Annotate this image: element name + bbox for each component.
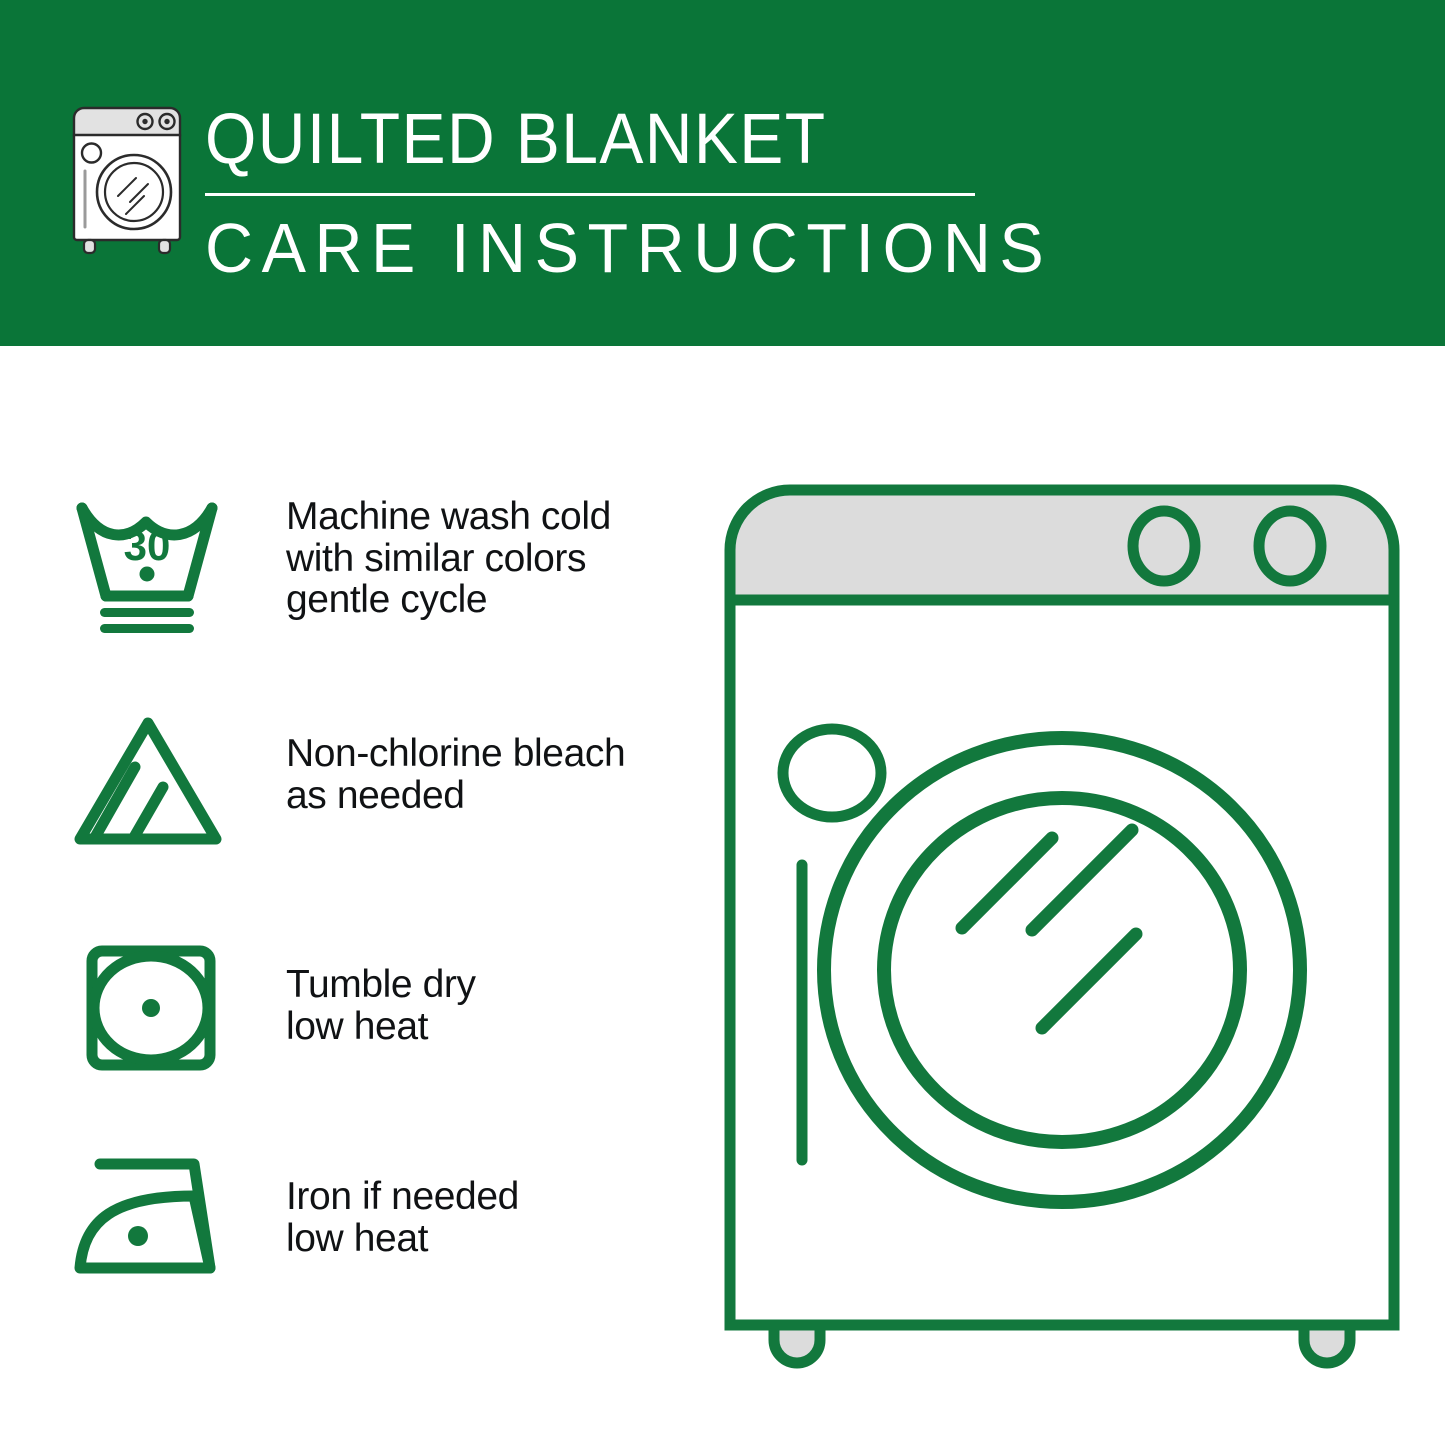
- wash-temperature-label: 30: [124, 522, 171, 569]
- wash-tub-30-gentle-symbol: 30: [70, 492, 234, 648]
- washing-machine-illustration: [712, 470, 1412, 1370]
- care-row-bleach: Non-chlorine bleach as needed: [70, 711, 625, 853]
- header-title-block: QUILTED BLANKET CARE INSTRUCTIONS: [205, 100, 995, 289]
- care-text-dry: Tumble dry low heat: [286, 937, 476, 1047]
- care-instructions-infographic: QUILTED BLANKET CARE INSTRUCTIONS 30: [0, 0, 1445, 1445]
- non-chlorine-bleach-triangle-symbol: [70, 711, 234, 853]
- page-title: QUILTED BLANKET: [205, 100, 940, 180]
- care-row-iron: Iron if needed low heat: [70, 1148, 519, 1284]
- care-row-wash: 30 Machine wash cold with similar colors…: [70, 492, 611, 648]
- care-text-iron: Iron if needed low heat: [286, 1148, 519, 1259]
- washing-machine-icon: [66, 104, 188, 256]
- care-text-bleach: Non-chlorine bleach as needed: [286, 711, 625, 816]
- iron-low-heat-symbol: [70, 1148, 234, 1284]
- tumble-dry-low-heat-symbol: [70, 937, 234, 1079]
- header-banner: QUILTED BLANKET CARE INSTRUCTIONS: [0, 0, 1445, 346]
- care-row-dry: Tumble dry low heat: [70, 937, 476, 1079]
- title-divider: [205, 193, 975, 196]
- care-text-wash: Machine wash cold with similar colors ge…: [286, 492, 611, 621]
- page-subtitle: CARE INSTRUCTIONS: [205, 207, 956, 289]
- care-instructions-list: 30 Machine wash cold with similar colors…: [0, 346, 700, 1445]
